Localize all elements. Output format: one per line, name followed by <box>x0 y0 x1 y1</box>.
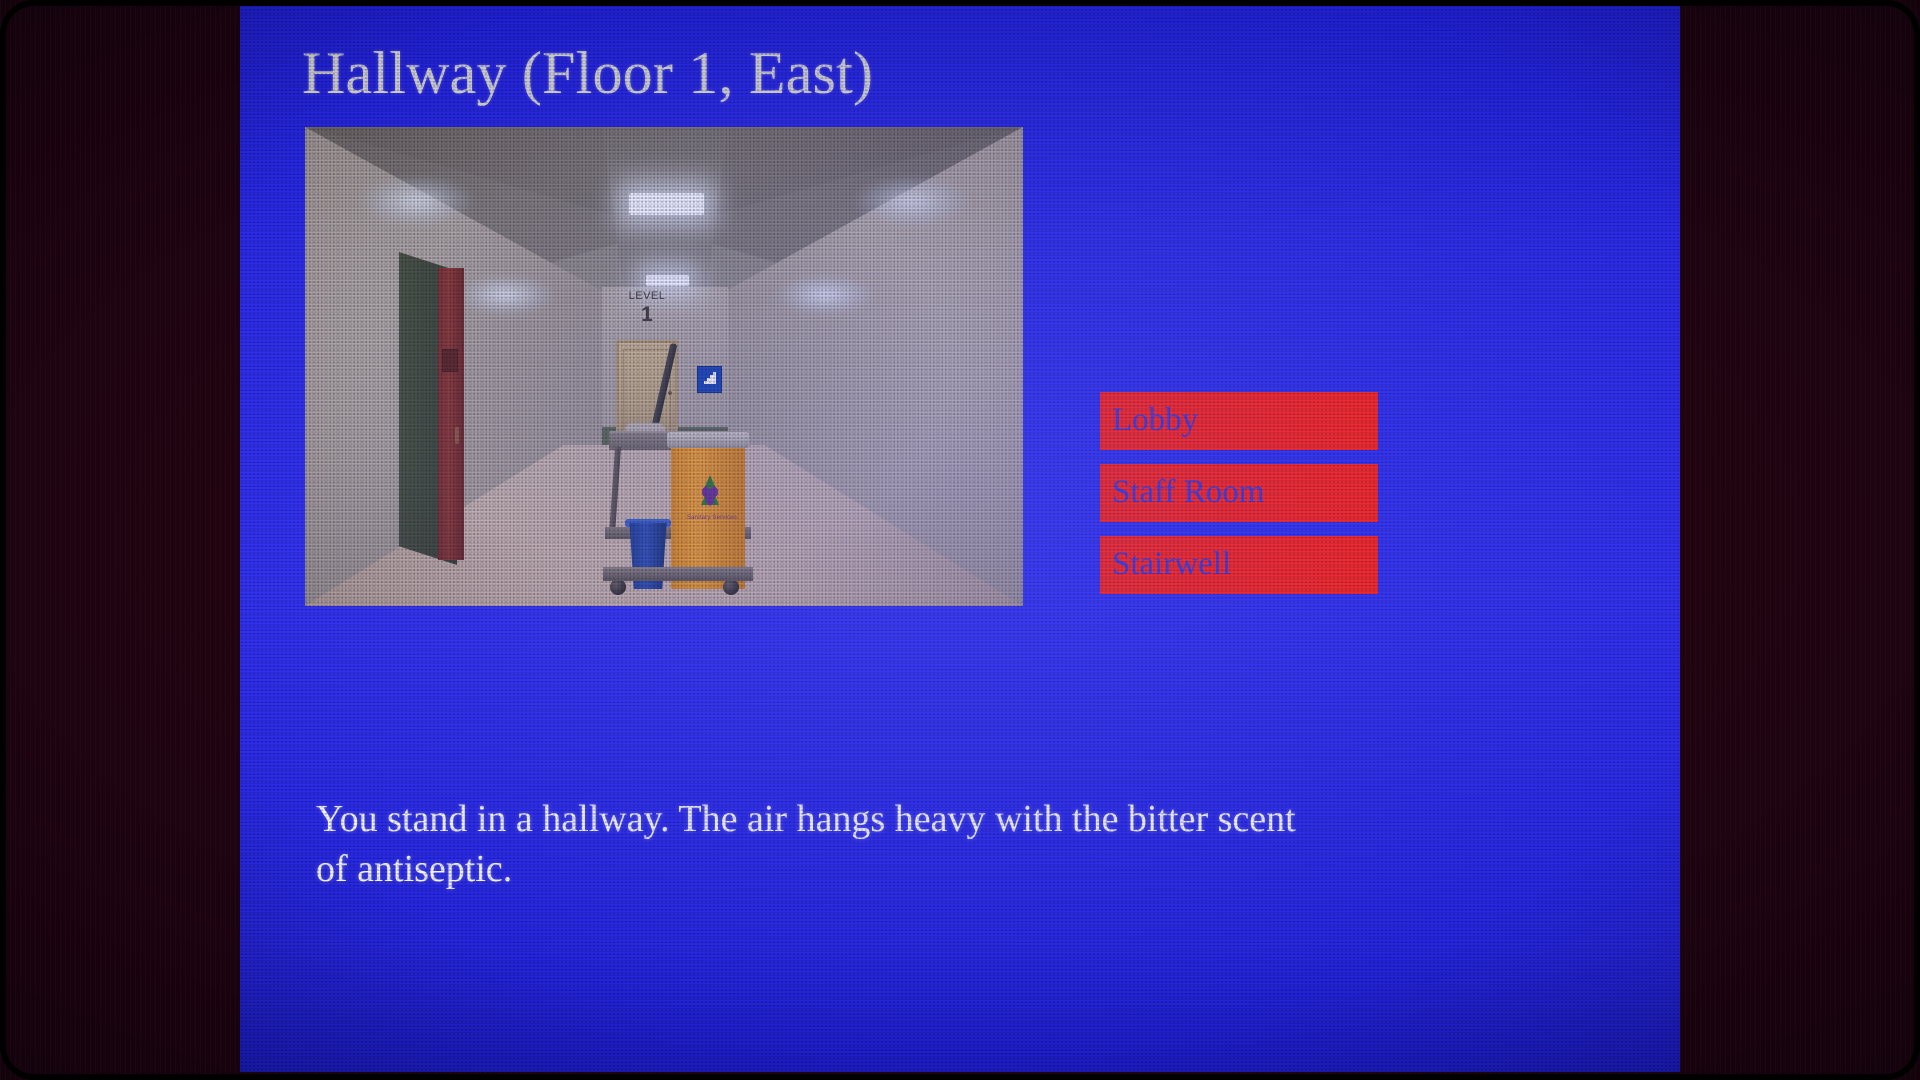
stairs-icon <box>703 371 717 385</box>
wall-light-glow <box>455 275 555 315</box>
wall-light-glow <box>357 175 475 227</box>
game-screen: Hallway (Floor 1, East) <box>240 4 1680 1072</box>
wall-light-glow <box>775 275 875 315</box>
level-sign-number: 1 <box>623 304 671 325</box>
cart-wheel <box>610 579 626 595</box>
wall-light-glow <box>853 175 971 227</box>
orange-bin-rim <box>667 432 749 448</box>
bin-logo-text: Sanitary Services <box>683 515 741 521</box>
door-handle <box>455 427 459 444</box>
level-sign: LEVEL 1 <box>623 291 671 333</box>
room-description: You stand in a hallway. The air hangs he… <box>316 794 1316 894</box>
exit-button-staff-room[interactable]: Staff Room <box>1100 464 1378 522</box>
exit-button-stairwell[interactable]: Stairwell <box>1100 536 1378 594</box>
crt-bezel: Hallway (Floor 1, East) <box>0 0 1920 1080</box>
door-window <box>442 349 458 372</box>
page-title: Hallway (Floor 1, East) <box>302 42 873 105</box>
ceiling-light-panel <box>646 275 689 286</box>
hallway-photo: LEVEL 1 <box>305 127 1023 606</box>
cart-wheel <box>723 579 739 595</box>
bin-logo-icon <box>693 475 727 513</box>
red-door <box>438 268 464 560</box>
ceiling-light-panel <box>629 193 704 215</box>
stairs-exit-sign <box>697 366 722 393</box>
exit-button-list: Lobby Staff Room Stairwell <box>1100 392 1378 594</box>
exit-button-lobby[interactable]: Lobby <box>1100 392 1378 450</box>
cart-base <box>603 567 753 581</box>
far-door-knob <box>668 391 672 395</box>
level-sign-word: LEVEL <box>623 291 671 302</box>
